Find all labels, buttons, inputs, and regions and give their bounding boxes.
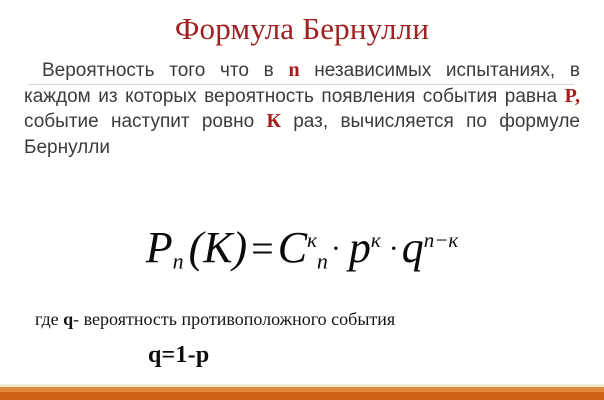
body-segment-1: Вероятность того что в <box>42 60 288 81</box>
formula-dot-2: · <box>386 232 402 265</box>
accent-n: n <box>288 59 299 81</box>
footer-stripe-main <box>0 392 604 400</box>
slide: Формула Бернулли Вероятность того что в … <box>0 0 604 400</box>
bernoulli-formula: Pn(К)=Cкn·pк·qn−к <box>0 222 604 273</box>
formula-dot-1: · <box>328 232 344 265</box>
note-definition: где q- вероятность противоположного собы… <box>35 308 395 330</box>
body-paragraph: Вероятность того что в n независимых исп… <box>24 58 580 160</box>
formula-equals: = <box>247 226 278 271</box>
note-prefix: где <box>35 309 63 329</box>
formula-c-sub: n <box>317 249 328 274</box>
formula-left-sub: n <box>173 249 184 274</box>
formula-p-base: p <box>349 223 371 272</box>
footer-bar <box>0 384 604 400</box>
accent-k: К <box>266 110 281 132</box>
accent-p: P, <box>565 85 580 107</box>
formula-p-sup: к <box>371 228 381 252</box>
body-paragraph-block: Вероятность того что в n независимых исп… <box>24 58 580 160</box>
formula-c-base: C <box>278 223 307 272</box>
formula-close-paren: ) <box>233 223 248 272</box>
formula-q-sup: n−к <box>424 228 459 252</box>
formula-open-paren: ( <box>189 223 204 272</box>
note-rest: - вероятность противоположного события <box>73 309 395 329</box>
formula-left-base: P <box>146 223 173 272</box>
note-equation: q=1-p <box>148 342 209 369</box>
page-title: Формула Бернулли <box>0 11 604 47</box>
body-segment-3: событие наступит ровно <box>24 111 266 132</box>
formula-arg: К <box>203 223 232 272</box>
formula-c-sup: к <box>307 228 317 252</box>
first-line-underline <box>28 84 574 85</box>
formula-q-base: q <box>402 223 424 272</box>
note-variable: q <box>63 309 73 329</box>
